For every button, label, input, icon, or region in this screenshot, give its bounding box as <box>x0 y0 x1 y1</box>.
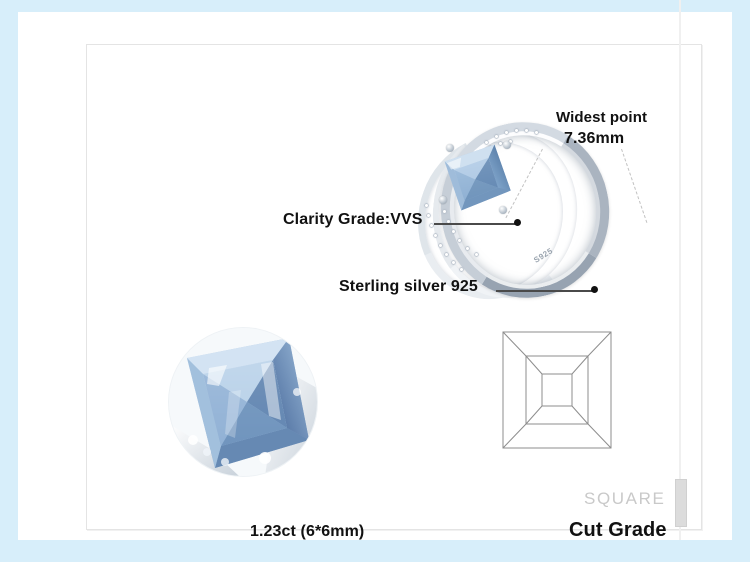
pave-stone <box>475 253 478 256</box>
pave-stone <box>505 131 508 134</box>
pave-stone <box>425 204 428 207</box>
spec-panel: S925 Widest point 7.36mm Clarity Grade:V… <box>86 44 702 530</box>
gemstone-closeup <box>169 328 317 476</box>
pave-stone <box>434 234 437 237</box>
pave-stone <box>430 224 433 227</box>
cut-shape-label: SQUARE <box>584 489 665 509</box>
clarity-grade-label: Clarity Grade:VVS <box>283 211 423 229</box>
pave-stone <box>452 261 455 264</box>
pave-stone <box>443 210 446 213</box>
cut-grade-title: Cut Grade <box>569 519 667 542</box>
ring-prong <box>503 141 511 149</box>
carat-caption: 1.23ct (6*6mm) <box>250 523 364 541</box>
square-cut-diagram <box>501 330 613 450</box>
clarity-leader-dot <box>514 219 521 226</box>
widest-point-label-line1: Widest point <box>556 109 647 126</box>
pave-stone <box>460 268 463 271</box>
clarity-leader-line <box>434 223 517 225</box>
ring-prong <box>439 196 447 204</box>
product-card: S925 Widest point 7.36mm Clarity Grade:V… <box>18 12 732 540</box>
widest-point-dash-right <box>621 149 647 223</box>
pave-stone <box>515 129 518 132</box>
center-gemstone <box>440 141 516 215</box>
material-label: Sterling silver 925 <box>339 278 478 296</box>
material-leader-line <box>496 290 593 292</box>
pave-stone <box>452 230 455 233</box>
material-leader-dot <box>591 286 598 293</box>
infographic-page: S925 Widest point 7.36mm Clarity Grade:V… <box>0 0 750 562</box>
pave-stone <box>525 129 528 132</box>
pave-stone <box>495 135 498 138</box>
widest-point-value: 7.36mm <box>564 130 624 148</box>
pave-stone <box>445 253 448 256</box>
pave-stone <box>535 131 538 134</box>
scrollbar-thumb[interactable] <box>675 479 687 527</box>
ring-prong <box>446 144 454 152</box>
pave-stone <box>439 244 442 247</box>
ring-prong <box>499 206 507 214</box>
pave-stone <box>458 239 461 242</box>
pave-stone <box>427 214 430 217</box>
scrollbar-track[interactable] <box>679 0 681 540</box>
pave-stone <box>466 247 469 250</box>
